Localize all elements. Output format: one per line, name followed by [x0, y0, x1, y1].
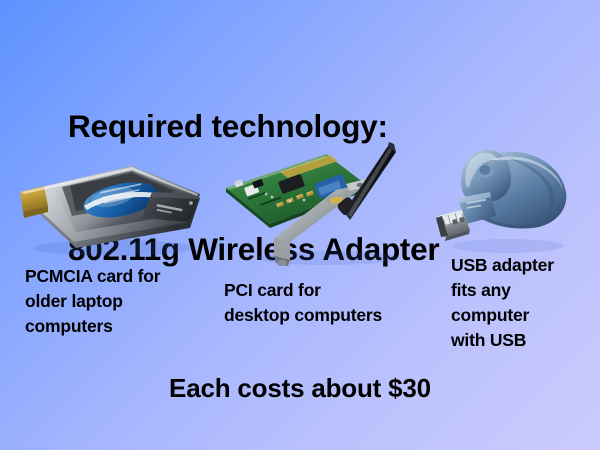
caption-pci-card: PCI card for desktop computers	[224, 278, 439, 328]
slide-canvas: Required technology: 802.11g Wireless Ad…	[0, 0, 600, 450]
pci-wireless-card-photo	[218, 138, 418, 270]
caption-usb-adapter: USB adapter fits any computer with USB	[451, 253, 596, 353]
pcmcia-wireless-card-photo	[14, 162, 204, 260]
caption-pcmcia-card: PCMCIA card for older laptop computers	[25, 264, 225, 339]
price-note: Each costs about $30	[0, 373, 600, 404]
usb-wireless-adapter-photo	[428, 142, 573, 260]
